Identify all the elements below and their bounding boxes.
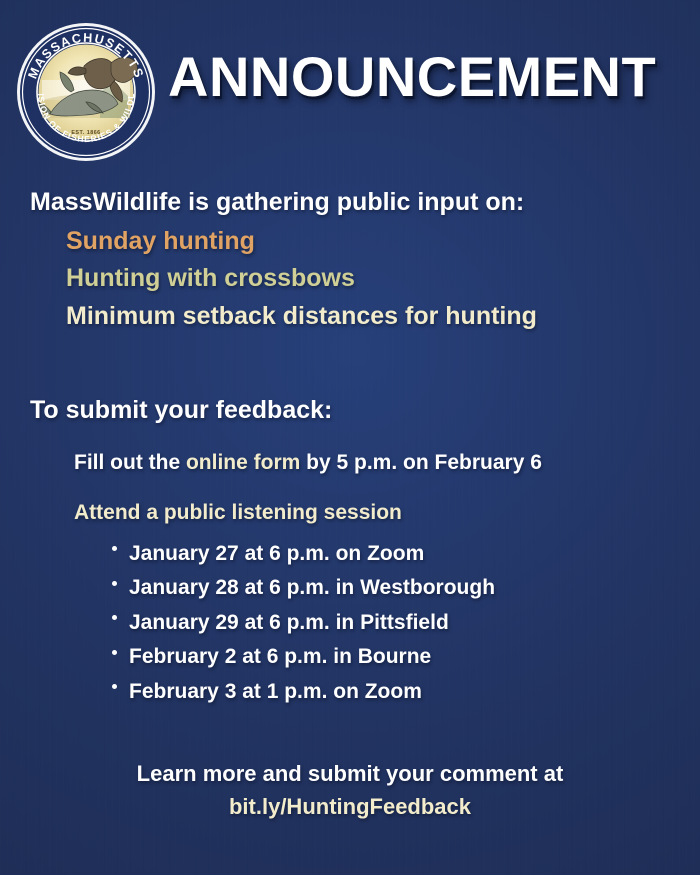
poster-header: EST. 1866 MASSACHUSETTS DIVISION OF FISH… [0, 0, 700, 172]
attend-session-line: Attend a public listening session [74, 501, 700, 525]
session-label: February 3 at 1 p.m. on Zoom [129, 680, 422, 703]
call-to-action: Learn more and submit your comment at bi… [0, 757, 700, 823]
bullet-dot-icon [112, 615, 117, 620]
list-item: February 3 at 1 p.m. on Zoom [112, 675, 700, 709]
seal-graphic: EST. 1866 MASSACHUSETTS DIVISION OF FISH… [16, 22, 156, 162]
poster-content: MassWildlife is gathering public input o… [0, 186, 700, 823]
list-item: January 27 at 6 p.m. on Zoom [112, 537, 700, 571]
online-form-line: Fill out the online form by 5 p.m. on Fe… [74, 451, 700, 475]
online-form-prefix: Fill out the [74, 451, 186, 474]
masswildlife-seal: EST. 1866 MASSACHUSETTS DIVISION OF FISH… [16, 22, 156, 162]
bullet-dot-icon [112, 546, 117, 551]
lead-statement: MassWildlife is gathering public input o… [30, 186, 700, 220]
topic-item-crossbows: Hunting with crossbows [66, 261, 700, 296]
session-label: January 28 at 6 p.m. in Westborough [129, 576, 495, 599]
bullet-dot-icon [112, 684, 117, 689]
cta-text: Learn more and submit your comment at [0, 757, 700, 790]
topic-item-setback-distances: Minimum setback distances for hunting [66, 299, 700, 334]
submit-feedback-heading: To submit your feedback: [30, 396, 700, 425]
list-item: February 2 at 6 p.m. in Bourne [112, 640, 700, 674]
announcement-poster: EST. 1866 MASSACHUSETTS DIVISION OF FISH… [0, 0, 700, 875]
bullet-dot-icon [112, 650, 117, 655]
list-item: January 28 at 6 p.m. in Westborough [112, 571, 700, 605]
online-form-suffix: by 5 p.m. on February 6 [300, 451, 542, 474]
online-form-link[interactable]: online form [186, 451, 300, 474]
session-label: January 29 at 6 p.m. in Pittsfield [129, 611, 449, 634]
list-item: January 29 at 6 p.m. in Pittsfield [112, 606, 700, 640]
topic-item-sunday-hunting: Sunday hunting [66, 224, 700, 259]
session-label: February 2 at 6 p.m. in Bourne [129, 645, 431, 668]
session-list: January 27 at 6 p.m. on Zoom January 28 … [0, 537, 700, 709]
bullet-dot-icon [112, 581, 117, 586]
session-label: January 27 at 6 p.m. on Zoom [129, 542, 424, 565]
page-title: ANNOUNCEMENT [168, 44, 656, 109]
cta-url-link[interactable]: bit.ly/HuntingFeedback [0, 790, 700, 823]
